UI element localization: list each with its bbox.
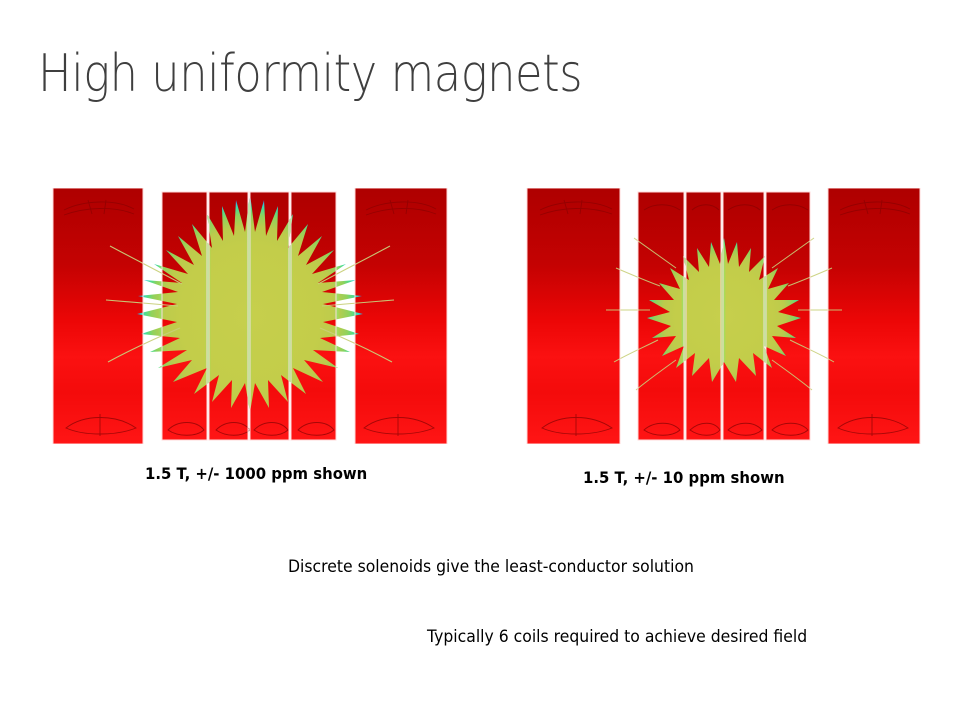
coil-panel-6 [828, 188, 920, 444]
magnet-field-map-10ppm [524, 188, 924, 444]
coil-panel-1 [527, 188, 620, 444]
page-title: High uniformity magnets [38, 44, 582, 104]
body-text-line-2: Typically 6 coils required to achieve de… [427, 627, 807, 647]
coil-panel-1 [53, 188, 143, 444]
figure-caption-left: 1.5 T, +/- 1000 ppm shown [145, 464, 367, 483]
magnet-field-map-1000ppm [50, 188, 450, 444]
coil-panel-6 [355, 188, 447, 444]
figure-caption-right: 1.5 T, +/- 10 ppm shown [583, 468, 785, 487]
body-text-line-1: Discrete solenoids give the least-conduc… [288, 557, 694, 577]
